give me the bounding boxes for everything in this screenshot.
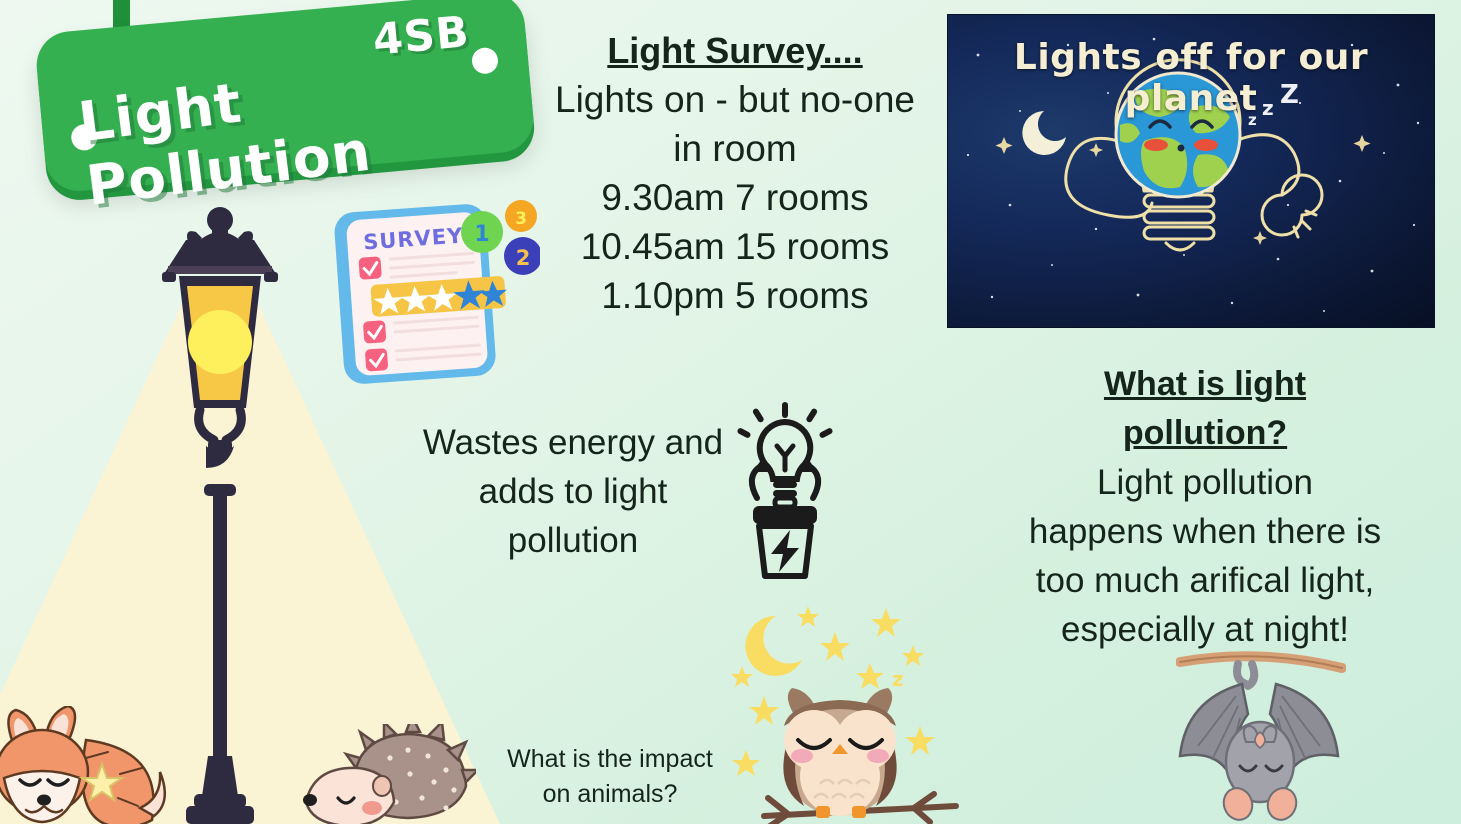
svg-text:2: 2 [516, 246, 531, 270]
waste-energy-text-block: Wastes energy and adds to light pollutio… [398, 418, 748, 565]
definition-line-1: Light pollution [1000, 458, 1410, 507]
waste-line-3: pollution [398, 516, 748, 565]
waste-line-1: Wastes energy and [398, 418, 748, 467]
svg-text:1: 1 [474, 222, 489, 247]
lights-off-banner: z z Z Lights off for our planet [947, 14, 1435, 328]
definition-line-2: happens when there is [1000, 507, 1410, 556]
survey-line-4: 10.45am 15 rooms [540, 222, 930, 271]
badge-2: 2 [504, 237, 540, 275]
light-pollution-poster: 4SB Light Pollution Light Survey.... Lig… [0, 0, 1461, 824]
sleeping-hedgehog-illustration [296, 724, 476, 824]
definition-heading-line2: pollution? [1000, 409, 1410, 458]
hanging-sign: 4SB Light Pollution [10, 0, 550, 209]
light-survey-heading: Light Survey.... [540, 26, 930, 75]
sleeping-bat-illustration [1176, 644, 1346, 824]
sleeping-fox-illustration [0, 706, 190, 824]
survey-line-5: 1.10pm 5 rooms [540, 271, 930, 320]
animals-line-1: What is the impact [470, 742, 750, 777]
badge-1: 1 [461, 211, 503, 253]
svg-text:z: z [892, 667, 904, 691]
sleeping-owl-illustration: z [728, 598, 993, 824]
survey-line-3: 9.30am 7 rooms [540, 173, 930, 222]
animals-question-text-block: What is the impact on animals? [470, 742, 750, 812]
survey-line-1: Lights on - but no-one [540, 75, 930, 124]
survey-clipboard-illustration: SURVEY [325, 198, 540, 388]
light-survey-text-block: Light Survey.... Lights on - but no-one … [540, 26, 930, 320]
definition-line-4: especially at night! [1000, 605, 1410, 654]
definition-line-3: too much arifical light, [1000, 556, 1410, 605]
definition-text-block: What is light pollution? Light pollution… [1000, 360, 1410, 654]
definition-heading-line1: What is light [1000, 360, 1410, 409]
waste-line-2: adds to light [398, 467, 748, 516]
survey-line-2: in room [540, 124, 930, 173]
svg-text:3: 3 [515, 209, 527, 229]
banner-title: Lights off for our planet [948, 37, 1434, 119]
sign-board: 4SB Light Pollution [34, 0, 536, 194]
lightbulb-recycle-bin-icon [735, 402, 835, 582]
animals-line-2: on animals? [470, 777, 750, 812]
sign-title: Light Pollution [75, 34, 539, 218]
